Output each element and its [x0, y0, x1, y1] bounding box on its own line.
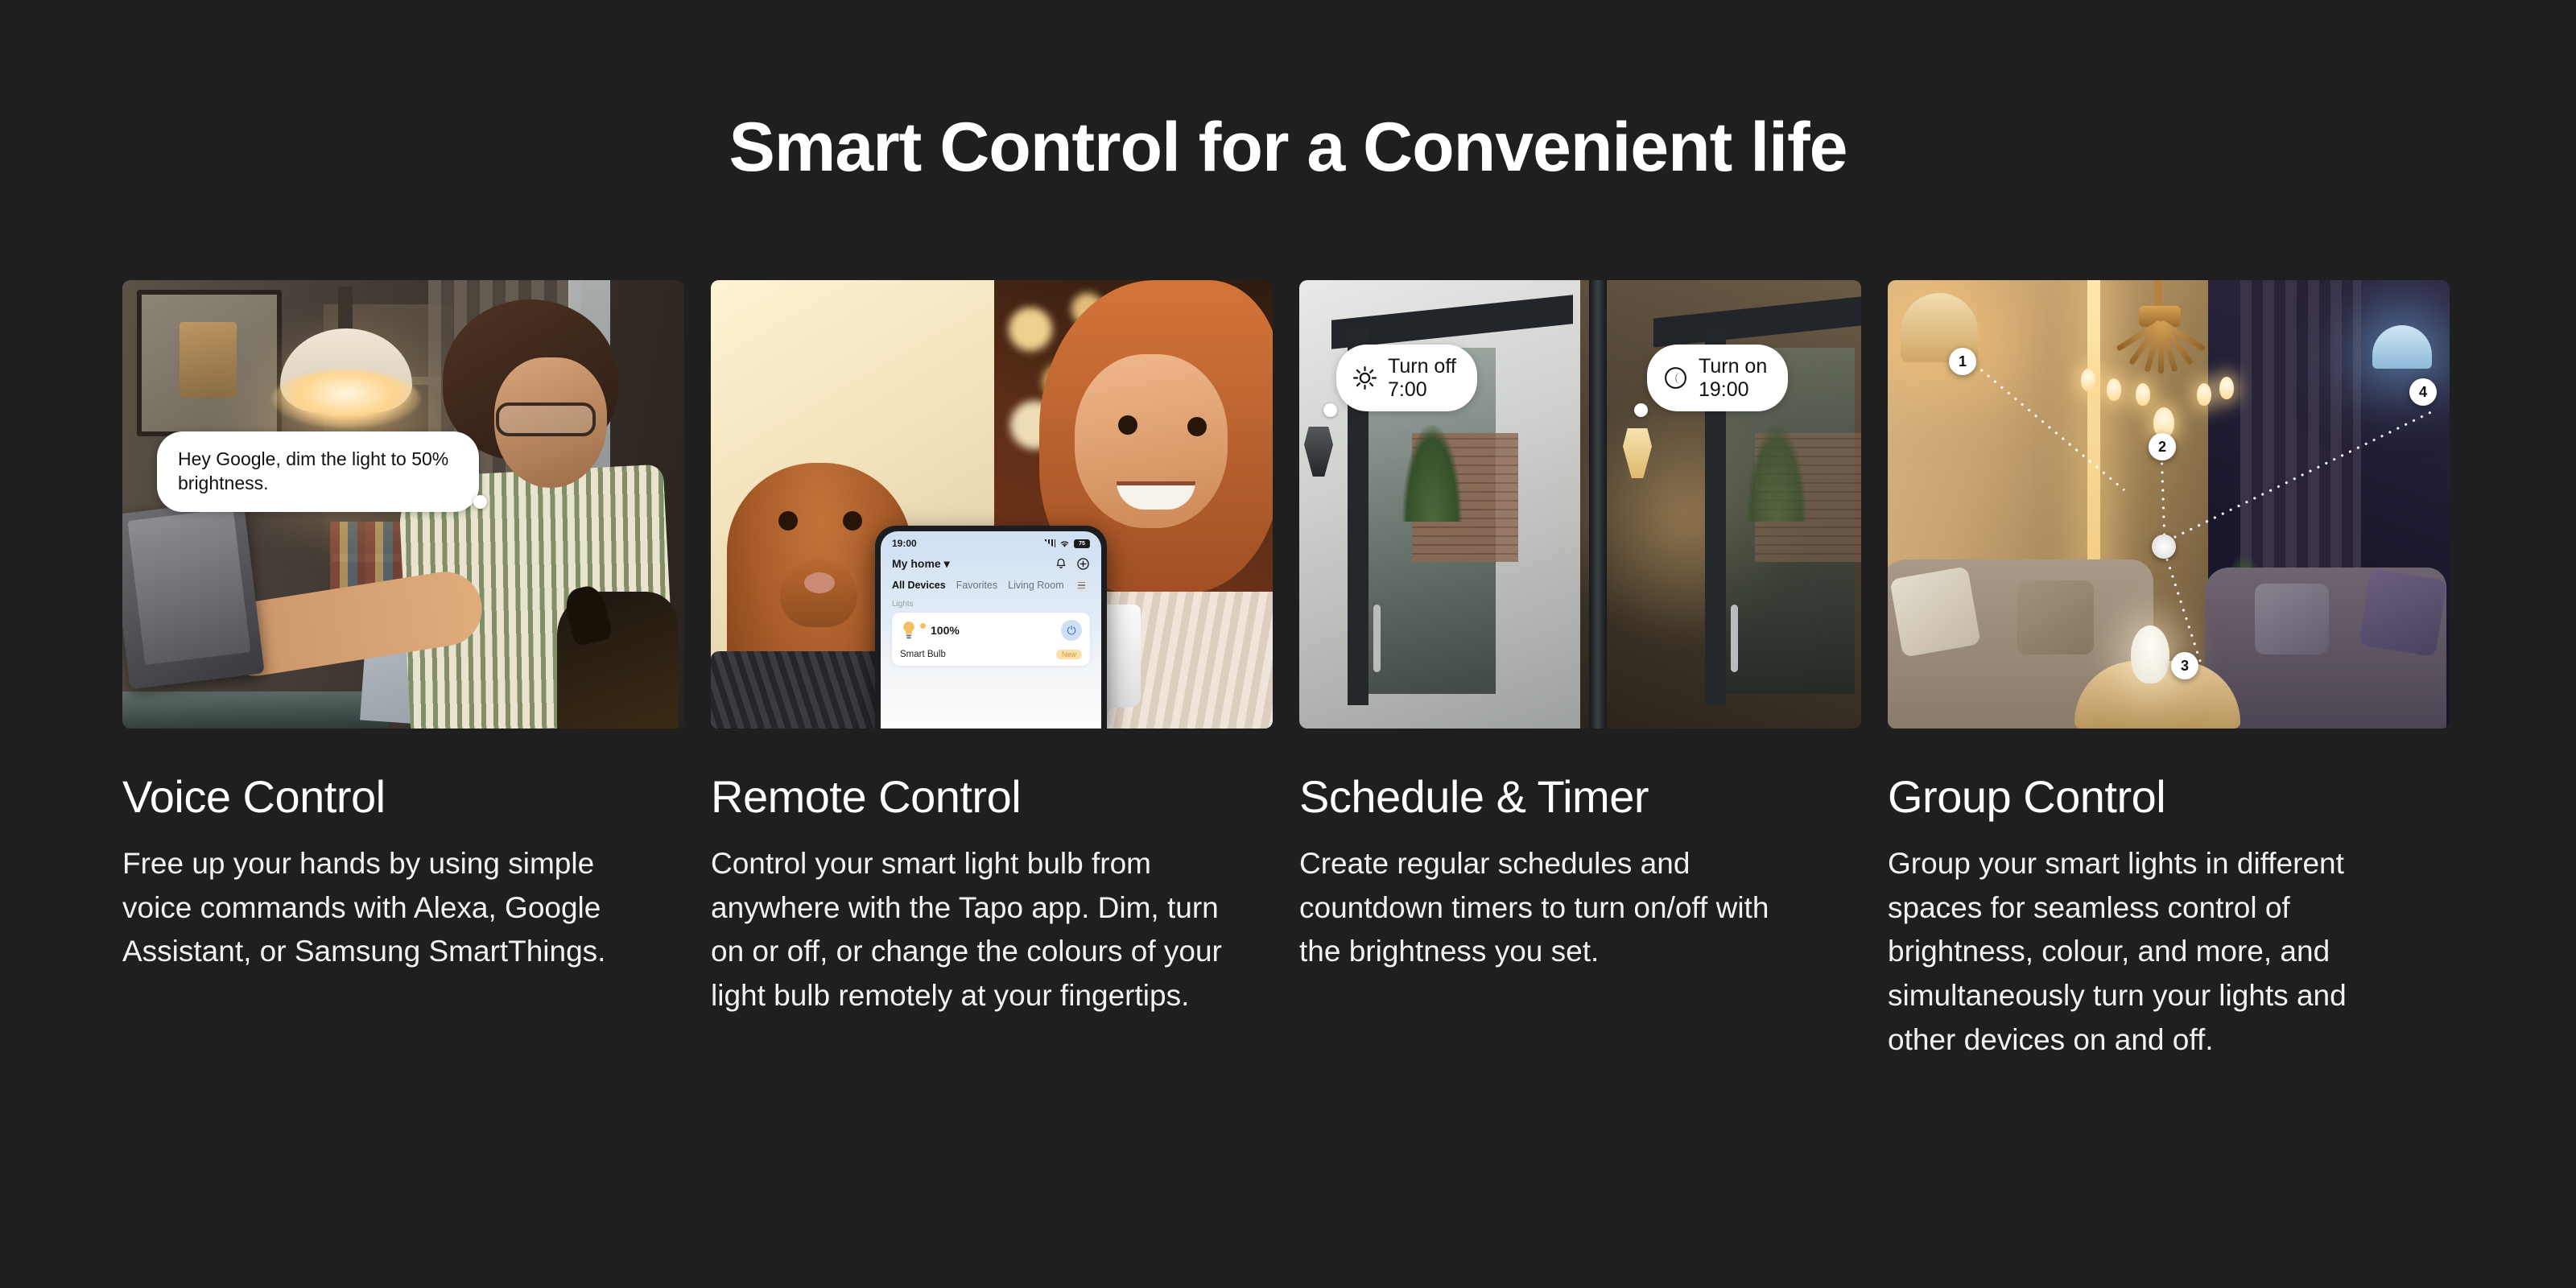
feature-card-grid: Hey Google, dim the light to 50% brightn… [122, 280, 2449, 1230]
tapo-app-screen: 19:00 75 [881, 531, 1101, 729]
cellular-signal-icon [1045, 539, 1055, 547]
card-body-remote-control: Control your smart light bulb from anywh… [711, 842, 1226, 1018]
card-title-schedule-timer: Schedule & Timer [1299, 774, 1861, 821]
group-node-2: 2 [2149, 433, 2176, 460]
phone-status-bar: 19:00 75 [881, 531, 1101, 551]
chandelier-bulb [2136, 383, 2150, 406]
home-name-label: My home [892, 557, 941, 570]
schedule-time-off: 7:00 [1388, 378, 1456, 402]
device-card-bottom-row: Smart Bulb New [900, 650, 1082, 659]
bokeh-light [1009, 308, 1052, 351]
phone-tab-bar: All Devices Favorites Living Room [881, 571, 1101, 592]
card-body-voice-control: Free up your hands by using simple voice… [122, 842, 638, 974]
remote-control-image: 19:00 75 [711, 280, 1273, 729]
group-node-3: 3 [2171, 652, 2198, 679]
door-handle-left [1373, 605, 1381, 672]
cushion [2017, 580, 2094, 654]
power-toggle-icon[interactable]: ⏻ [1061, 620, 1082, 641]
tab-all-devices[interactable]: All Devices [892, 580, 946, 591]
card-title-voice-control: Voice Control [122, 774, 684, 821]
tablet-screen [127, 508, 250, 665]
dog-eye [778, 511, 798, 530]
cushion [2255, 584, 2329, 654]
schedule-dot-right [1634, 403, 1648, 417]
status-indicators: 75 [1045, 539, 1090, 548]
light-bulb-icon [900, 620, 918, 641]
schedule-action-on: Turn on [1699, 355, 1767, 378]
plant-right [1747, 425, 1806, 522]
tab-menu-icon[interactable] [1075, 579, 1089, 592]
tablet-device [122, 499, 265, 690]
chandelier-bulb [2197, 383, 2211, 406]
feature-card-group-control: 1 2 3 4 Group Control Group your smart l… [1888, 280, 2450, 1230]
phone-header-actions [1055, 557, 1090, 571]
bell-icon[interactable] [1055, 557, 1067, 571]
feature-card-voice-control: Hey Google, dim the light to 50% brightn… [122, 280, 684, 1230]
table-smart-lamp [2131, 625, 2169, 683]
voice-control-image: Hey Google, dim the light to 50% brightn… [122, 280, 684, 729]
device-name: Smart Bulb [900, 650, 946, 659]
schedule-pill-turn-off: Turn off 7:00 [1336, 345, 1477, 411]
bulb-status-dot [920, 623, 926, 629]
schedule-timer-image: Turn off 7:00 Turn on 19:00 [1299, 280, 1861, 729]
woman-eye [1187, 417, 1207, 436]
feature-card-schedule-timer: Turn off 7:00 Turn on 19:00 [1299, 280, 1861, 1230]
door-handle-right [1731, 605, 1738, 672]
cushion [2359, 568, 2447, 657]
page-title: Smart Control for a Convenient life [0, 113, 2576, 182]
chevron-down-icon: ▾ [944, 557, 950, 570]
card-title-group-control: Group Control [1888, 774, 2450, 821]
card-body-group-control: Group your smart lights in different spa… [1888, 842, 2403, 1063]
glass-table [122, 691, 388, 729]
schedule-pill-turn-on: Turn on 19:00 [1647, 345, 1788, 411]
lamp-light [272, 370, 420, 428]
tab-living-room[interactable]: Living Room [1008, 580, 1063, 591]
new-badge: New [1056, 650, 1082, 659]
voice-command-bubble: Hey Google, dim the light to 50% brightn… [157, 431, 479, 512]
chandelier-bulb [2107, 378, 2121, 401]
battery-icon: 75 [1074, 539, 1090, 548]
hub-node [2152, 535, 2176, 559]
voice-bubble-dot [473, 495, 487, 509]
card-title-remote-control: Remote Control [711, 774, 1273, 821]
chandelier-bulb [2219, 377, 2234, 399]
group-node-1: 1 [1949, 348, 1976, 375]
home-selector[interactable]: My home ▾ [892, 557, 950, 571]
dog-eye [843, 511, 862, 530]
device-section-label: Lights [881, 592, 1101, 609]
device-card-top-row: 100% ⏻ [900, 620, 1082, 641]
schedule-pill-text-off: Turn off 7:00 [1388, 355, 1456, 401]
plant-left [1402, 425, 1462, 522]
cushion [1889, 566, 1981, 658]
promo-page: Smart Control for a Convenient life [0, 0, 2576, 1288]
card-body-schedule-timer: Create regular schedules and countdown t… [1299, 842, 1814, 974]
schedule-pill-text-on: Turn on 19:00 [1699, 355, 1767, 401]
add-device-icon[interactable] [1076, 557, 1090, 571]
moon-icon [1663, 365, 1688, 390]
eyeglasses-icon [496, 402, 596, 436]
feature-card-remote-control: 19:00 75 [711, 280, 1273, 1230]
phone-home-header: My home ▾ [881, 551, 1101, 571]
woman-eye [1118, 415, 1137, 435]
device-card-smart-bulb[interactable]: 100% ⏻ Smart Bulb New [892, 613, 1090, 666]
sun-icon [1352, 365, 1377, 390]
schedule-dot-left [1323, 403, 1337, 417]
brightness-value: 100% [931, 624, 960, 637]
dog-snout [780, 559, 857, 627]
smartphone-mockup: 19:00 75 [875, 526, 1107, 729]
wifi-icon [1059, 539, 1070, 547]
schedule-time-on: 19:00 [1699, 378, 1767, 402]
status-time: 19:00 [892, 538, 917, 549]
group-node-4: 4 [2409, 378, 2437, 406]
group-control-image: 1 2 3 4 [1888, 280, 2450, 729]
chandelier-bulb [2081, 369, 2095, 391]
dog-nose [804, 572, 835, 593]
schedule-action-off: Turn off [1388, 355, 1456, 378]
drain-pipe [1589, 280, 1607, 729]
tab-favorites[interactable]: Favorites [956, 580, 997, 591]
